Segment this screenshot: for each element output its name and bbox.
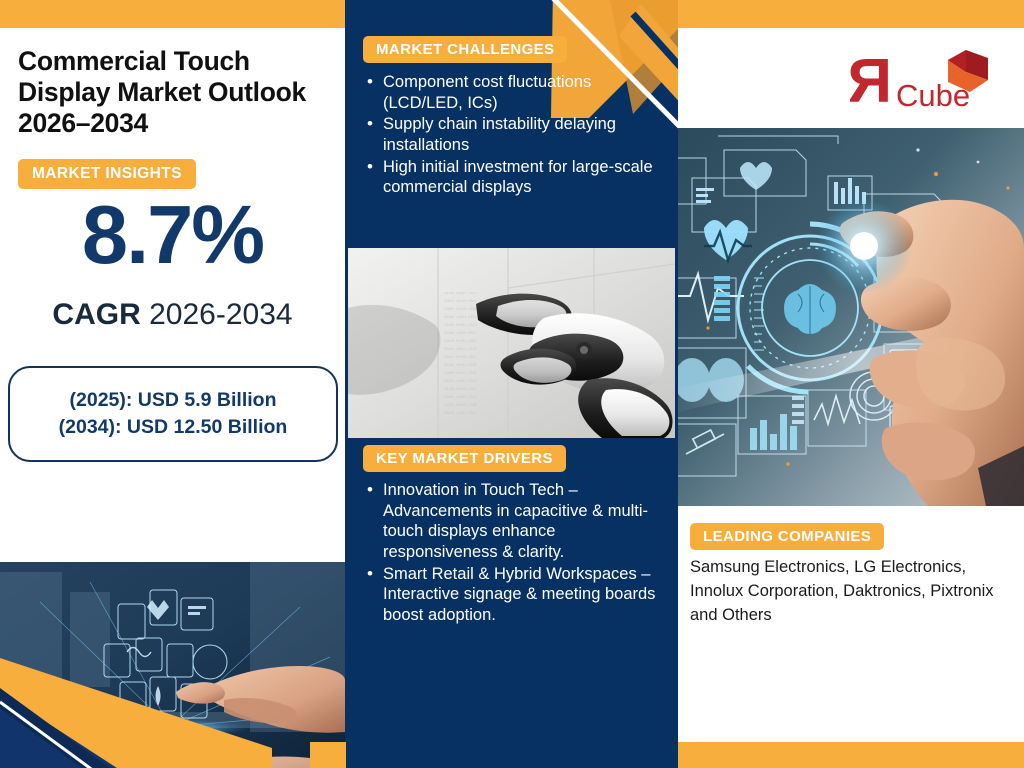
list-item: Supply chain instability delaying instal… bbox=[365, 114, 657, 155]
photo-right bbox=[678, 128, 1024, 506]
svg-text:11000 01011 1101: 11000 01011 1101 bbox=[444, 372, 477, 376]
svg-text:10110 00110 1011: 10110 00110 1011 bbox=[444, 388, 477, 392]
photo-middle: 10110 01001 1101 01011 10110 0011 11001 … bbox=[348, 248, 675, 438]
market-value-2034: (2034): USD 12.50 Billion bbox=[59, 416, 288, 439]
market-value-2025: (2025): USD 5.9 Billion bbox=[70, 389, 277, 412]
photo-bottom-left bbox=[0, 562, 345, 768]
middle-navy-column: MARKET CHALLENGES Component cost fluctua… bbox=[345, 0, 678, 768]
bottom-orange-bar-right bbox=[678, 742, 1024, 768]
infographic-page: Commercial Touch Display Market Outlook … bbox=[0, 0, 1024, 768]
leading-companies-text: Samsung Electronics, LG Electronics, Inn… bbox=[690, 556, 1012, 628]
svg-text:11101 01010 1100: 11101 01010 1100 bbox=[444, 404, 477, 408]
left-column: Commercial Touch Display Market Outlook … bbox=[0, 28, 345, 768]
list-item: Innovation in Touch Tech – Advancements … bbox=[365, 480, 665, 563]
key-market-drivers-list: Innovation in Touch Tech – Advancements … bbox=[365, 480, 665, 626]
svg-text:01011 10110 0011: 01011 10110 0011 bbox=[444, 300, 477, 304]
brand-logo: R Cube bbox=[678, 28, 1024, 128]
leading-companies-badge: LEADING COMPANIES bbox=[690, 523, 884, 550]
cagr-label-strong: CAGR bbox=[52, 298, 140, 331]
key-market-drivers-badge: KEY MARKET DRIVERS bbox=[363, 445, 566, 472]
svg-text:01001 10100 0111: 01001 10100 0111 bbox=[444, 396, 477, 400]
page-title: Commercial Touch Display Market Outlook … bbox=[18, 46, 328, 139]
market-challenges-badge: MARKET CHALLENGES bbox=[363, 36, 567, 63]
market-value-box: (2025): USD 5.9 Billion (2034): USD 12.5… bbox=[8, 366, 338, 462]
svg-text:01110 10101 0100: 01110 10101 0100 bbox=[444, 364, 477, 368]
svg-text:11001 01110 1000: 11001 01110 1000 bbox=[444, 308, 477, 312]
cagr-value: 8.7% bbox=[0, 193, 345, 276]
cagr-label-range: 2026-2034 bbox=[149, 298, 292, 331]
list-item: Component cost fluctuations (LCD/LED, IC… bbox=[365, 72, 657, 113]
svg-text:10101 00101 1110: 10101 00101 1110 bbox=[444, 324, 477, 328]
rcube-logo: R Cube bbox=[850, 46, 1000, 118]
list-item: Smart Retail & Hybrid Workspaces – Inter… bbox=[365, 564, 665, 626]
svg-text:00101 10011 0110: 00101 10011 0110 bbox=[444, 348, 477, 352]
svg-text:11010 01101 1001: 11010 01101 1001 bbox=[444, 340, 477, 344]
list-item: High initial investment for large-scale … bbox=[365, 157, 657, 198]
bottom-orange-bar-left bbox=[310, 742, 346, 768]
svg-text:00111 11001 0010: 00111 11001 0010 bbox=[444, 380, 477, 384]
market-challenges-list: Component cost fluctuations (LCD/LED, IC… bbox=[365, 72, 657, 199]
reversed-r-letter: R bbox=[850, 47, 892, 116]
market-insights-badge: MARKET INSIGHTS bbox=[18, 159, 196, 189]
svg-text:R: R bbox=[850, 47, 892, 116]
svg-text:01100 11010 0011: 01100 11010 0011 bbox=[444, 332, 477, 336]
top-orange-bar-right bbox=[678, 0, 1024, 28]
corner-decoration-bottom-left bbox=[0, 562, 345, 768]
cagr-label: CAGR 2026-2034 bbox=[0, 300, 345, 330]
holographic-hud-illustration bbox=[678, 128, 1024, 506]
svg-text:10011 01100 1011: 10011 01100 1011 bbox=[444, 356, 477, 360]
top-orange-bar-left bbox=[0, 0, 345, 28]
svg-text:00010 11101 0011: 00010 11101 0011 bbox=[444, 412, 477, 416]
right-column: R Cube bbox=[678, 28, 1024, 768]
svg-text:00110 11011 0101: 00110 11011 0101 bbox=[444, 316, 477, 320]
svg-text:10110 01001 1101: 10110 01001 1101 bbox=[444, 292, 477, 296]
robot-hand-illustration: 10110 01001 1101 01011 10110 0011 11001 … bbox=[348, 248, 675, 438]
